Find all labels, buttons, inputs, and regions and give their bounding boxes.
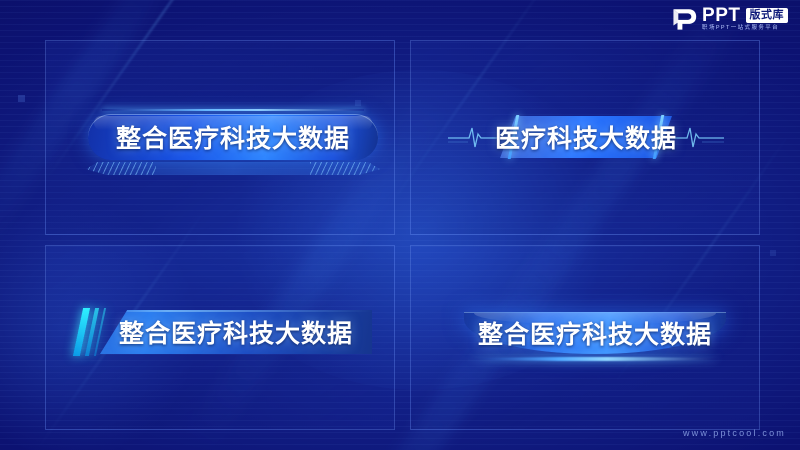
panel-4-title: 整合医疗科技大数据 xyxy=(478,315,712,351)
pill-top-highlight-line xyxy=(102,109,364,111)
title-banner-rounded-pill[interactable]: 整合医疗科技大数据 xyxy=(88,114,378,160)
logo-subtitle: 职场PPT一站式服务平台 xyxy=(702,26,779,32)
tech-underbar-decoration xyxy=(86,162,380,175)
panel-1-title: 整合医疗科技大数据 xyxy=(116,119,350,155)
brand-logo[interactable]: PPT 版式库 职场PPT一站式服务平台 xyxy=(671,6,788,32)
swoosh-glow-underline xyxy=(472,357,718,361)
title-banner-parallelogram[interactable]: 医疗科技大数据 xyxy=(500,116,672,158)
decor-chip-1 xyxy=(18,95,25,102)
panel-3-title: 整合医疗科技大数据 xyxy=(119,314,353,350)
site-watermark: www.pptcool.com xyxy=(683,428,786,438)
slide-canvas: 整合医疗科技大数据 医疗科技大数据 整合医疗科技大数据 整合医疗科技大数据 xyxy=(0,0,800,450)
title-banner-curved-swoosh[interactable]: 整合医疗科技大数据 xyxy=(470,312,720,354)
panel-2-title: 医疗科技大数据 xyxy=(495,119,677,155)
logo-wordmark: PPT xyxy=(702,6,740,25)
ppt-p-logo-mark-icon xyxy=(671,6,697,32)
decor-chip-3 xyxy=(770,250,776,256)
title-banner-slanted-slab[interactable]: 整合医疗科技大数据 xyxy=(100,310,372,354)
logo-badge: 版式库 xyxy=(746,8,789,23)
